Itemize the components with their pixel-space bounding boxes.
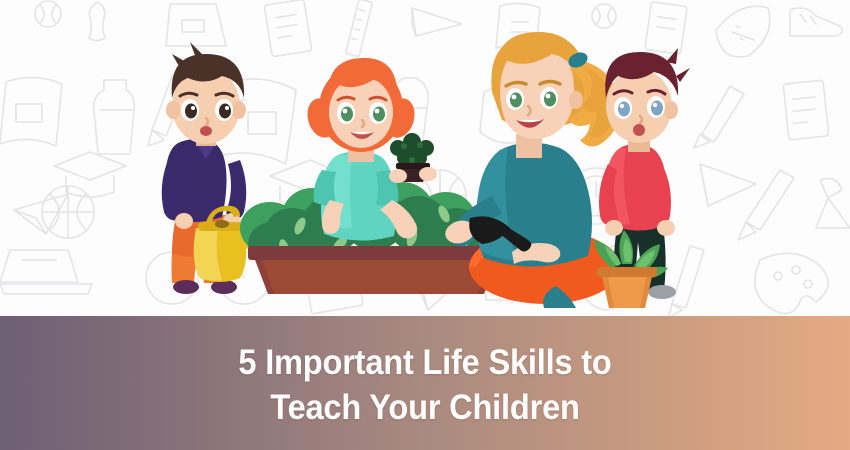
title-line-1: 5 Important Life Skills to [30, 340, 821, 385]
article-hero-banner: 5 Important Life Skills to Teach Your Ch… [0, 0, 850, 450]
hero-illustration [0, 0, 850, 316]
gardening-scene [0, 0, 850, 316]
character-woman-gardener [443, 32, 621, 308]
page-title: 5 Important Life Skills to Teach Your Ch… [30, 336, 821, 430]
title-line-2: Teach Your Children [30, 385, 821, 430]
title-banner: 5 Important Life Skills to Teach Your Ch… [0, 316, 850, 450]
